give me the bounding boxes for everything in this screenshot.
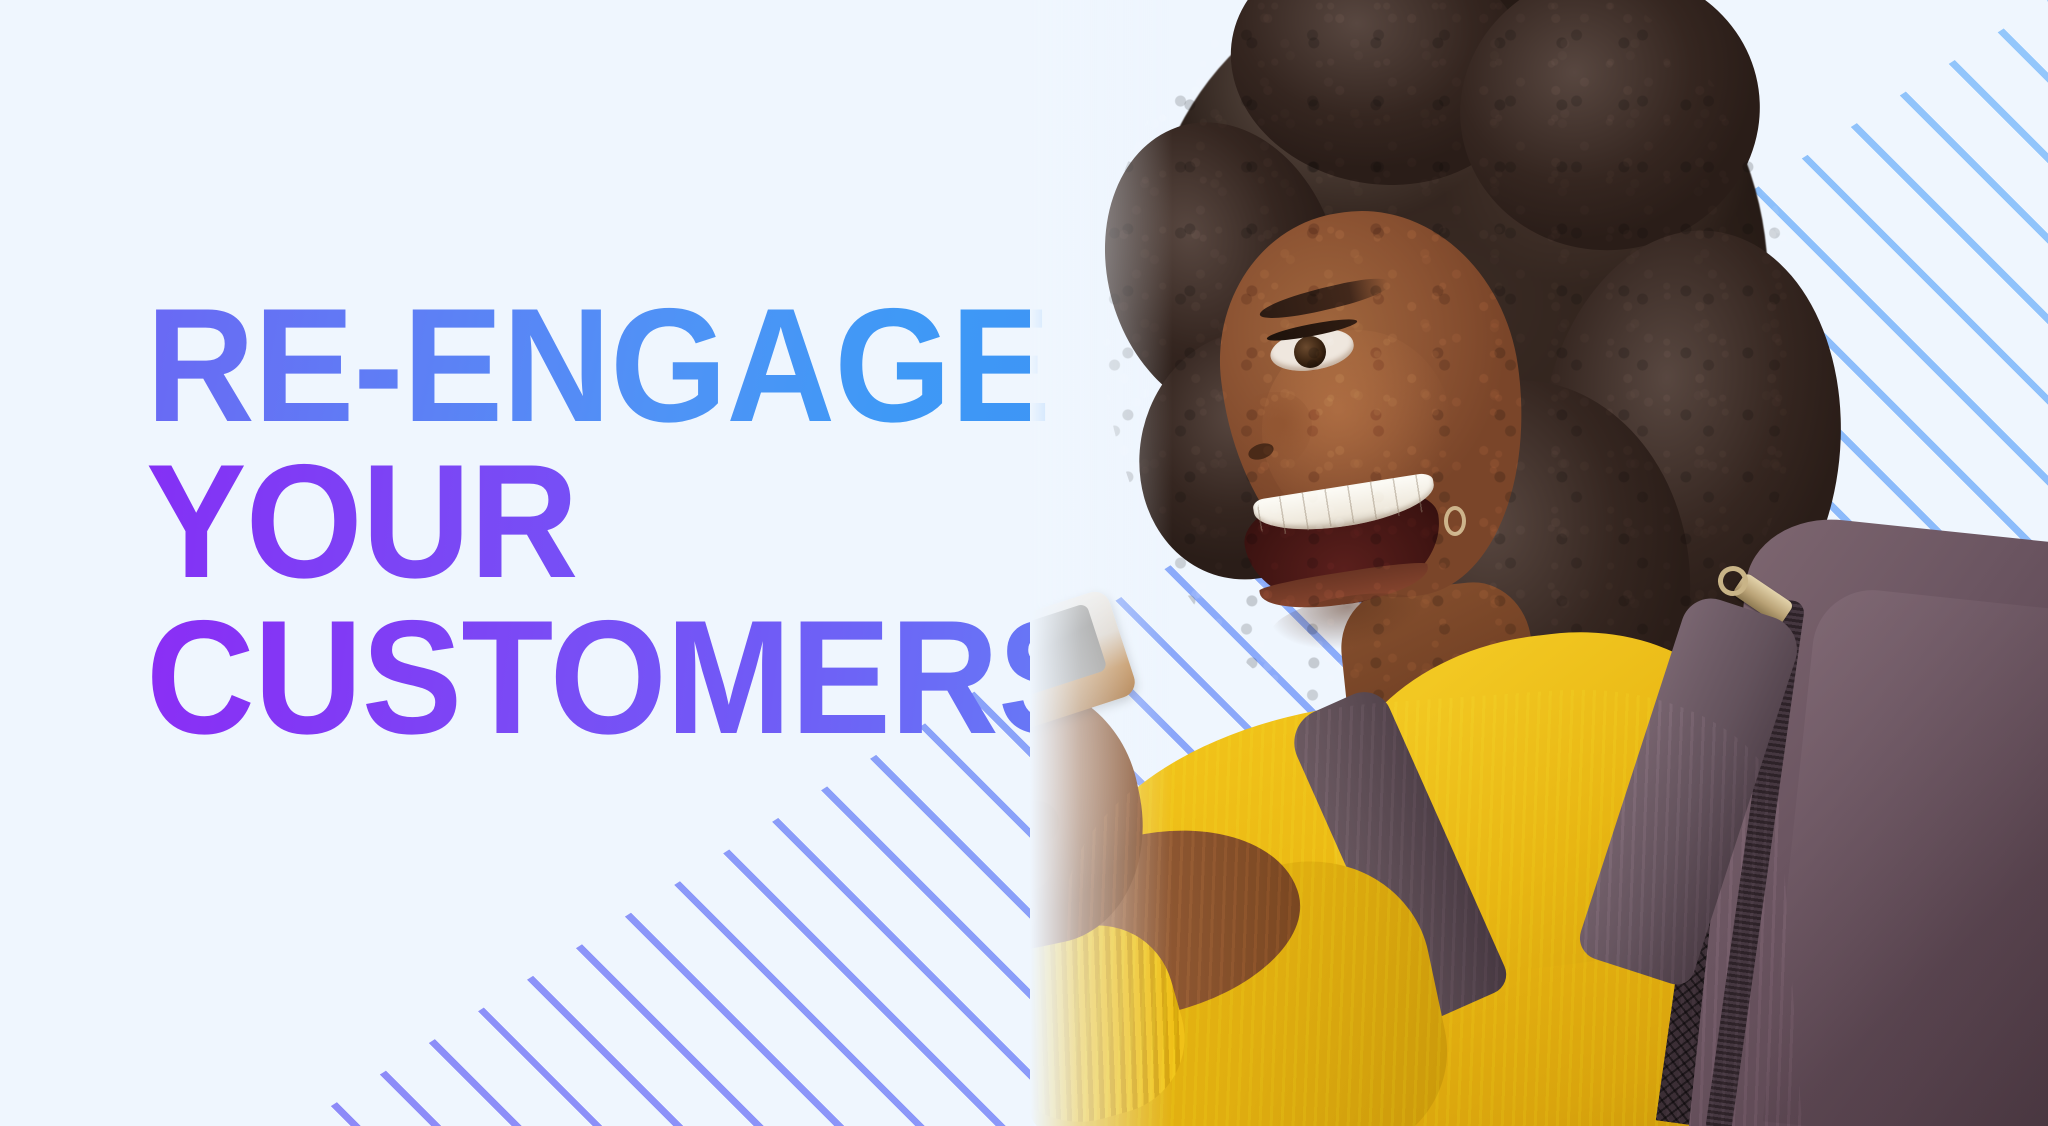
sweater-knit-texture [1052, 676, 1807, 1126]
headline-line-2: YOUR [146, 444, 1098, 600]
headline-line-1: RE-ENGAGE [146, 288, 1098, 444]
headline-block: RE-ENGAGE YOUR CUSTOMERS [146, 288, 1169, 756]
hero-photo [1030, 0, 2048, 1126]
marketing-banner: RE-ENGAGE YOUR CUSTOMERS [0, 0, 2048, 1126]
headline-line-3: CUSTOMERS [146, 600, 1098, 756]
